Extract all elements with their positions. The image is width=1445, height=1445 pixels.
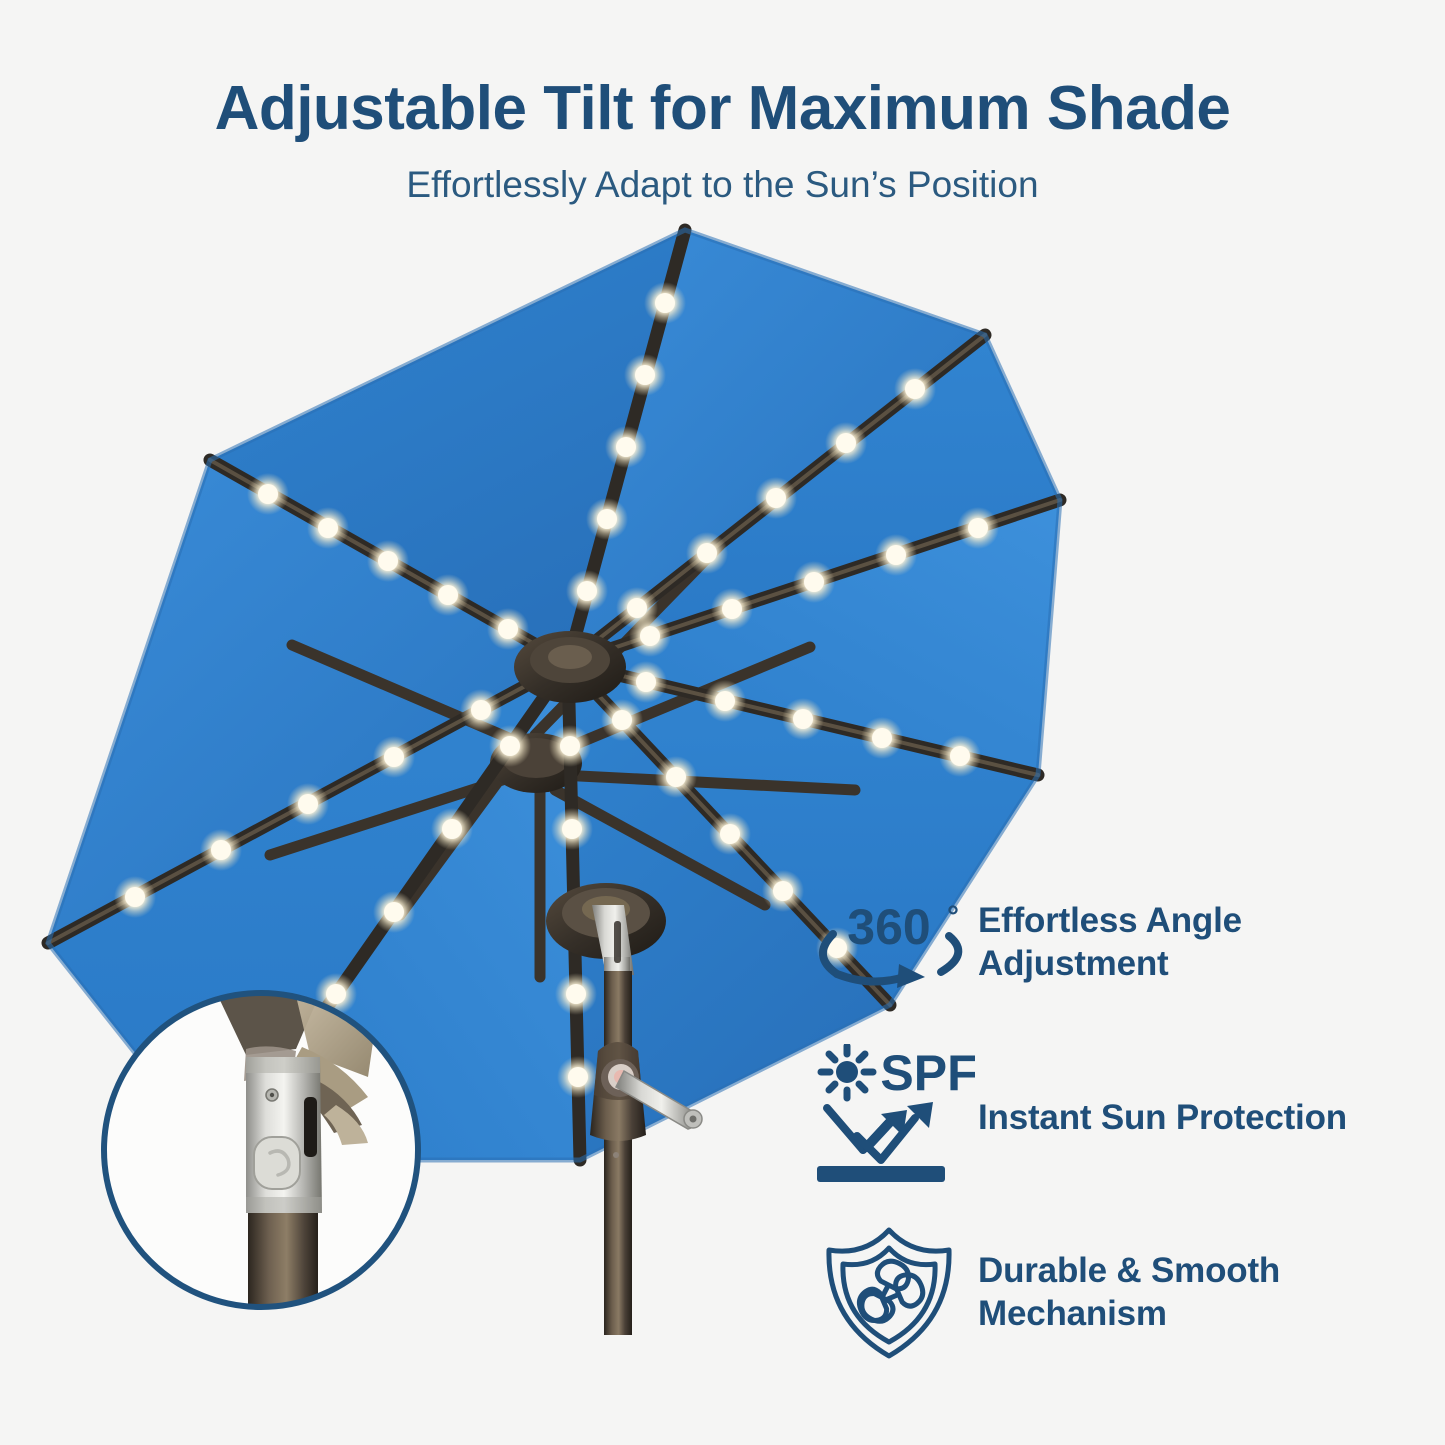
tilt-mechanism-detail-inset [96, 985, 426, 1315]
feature-label-line2: Mechanism [978, 1293, 1280, 1336]
header: Adjustable Tilt for Maximum Shade Effort… [0, 0, 1445, 203]
spf-text: SPF [880, 1045, 975, 1101]
page-title: Adjustable Tilt for Maximum Shade [0, 0, 1445, 140]
feature-list: 360 ° Effortless Angle Adjustment [800, 868, 1440, 1388]
feature-item-durable-mechanism: Durable & Smooth Mechanism [800, 1218, 1440, 1368]
feature-label-line1: Instant Sun Protection [978, 1097, 1347, 1140]
360-degree-rotation-icon: 360 ° [800, 888, 978, 998]
feature-label-line1: Durable & Smooth [978, 1250, 1280, 1293]
feature-label-durable-mechanism: Durable & Smooth Mechanism [978, 1250, 1280, 1335]
360-text: 360 [847, 899, 930, 955]
feature-label-line2: Adjustment [978, 943, 1242, 986]
tilt-collar [246, 1057, 322, 1213]
infographic-canvas: Adjustable Tilt for Maximum Shade Effort… [0, 0, 1445, 1445]
shield-wrench-icon [800, 1224, 978, 1362]
feature-item-angle-adjustment: 360 ° Effortless Angle Adjustment [800, 868, 1440, 1018]
feature-item-sun-protection: SPF Instant Sun Protection [800, 1038, 1440, 1198]
sun-icon [821, 1046, 873, 1098]
page-subtitle: Effortlessly Adapt to the Sun’s Position [0, 140, 1445, 203]
spf-sun-protection-icon: SPF [800, 1044, 978, 1192]
tilt-push-button [254, 1137, 300, 1189]
feature-label-angle-adjustment: Effortless Angle Adjustment [978, 900, 1242, 985]
degree-symbol: ° [947, 900, 959, 933]
feature-label-sun-protection: Instant Sun Protection [978, 1097, 1347, 1140]
feature-label-line1: Effortless Angle [978, 900, 1242, 943]
spf-surface-bar [817, 1166, 945, 1182]
umbrella-hub [514, 631, 626, 703]
